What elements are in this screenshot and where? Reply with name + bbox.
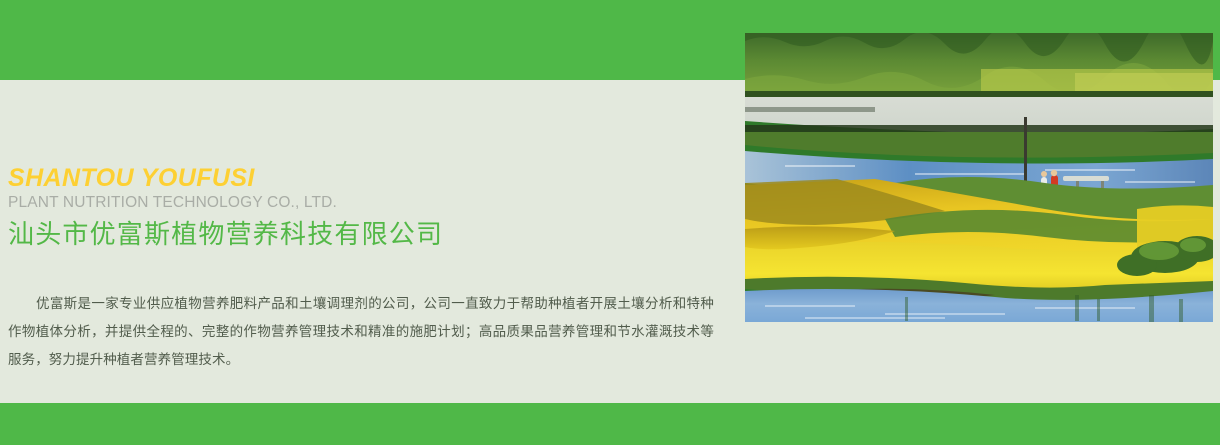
bottom-green-band <box>0 403 1220 445</box>
company-name-english: SHANTOU YOUFUSI <box>8 165 708 191</box>
company-name-chinese: 汕头市优富斯植物营养科技有限公司 <box>8 218 708 252</box>
farm-field-illustration <box>745 33 1213 322</box>
company-intro-paragraph: 优富斯是一家专业供应植物营养肥料产品和土壤调理剂的公司，公司一直致力于帮助种植者… <box>8 290 714 374</box>
farm-field-photo <box>745 33 1213 322</box>
company-profile-page: SHANTOU YOUFUSI PLANT NUTRITION TECHNOLO… <box>0 0 1220 445</box>
brand-block: SHANTOU YOUFUSI PLANT NUTRITION TECHNOLO… <box>8 165 708 251</box>
company-subtitle-english: PLANT NUTRITION TECHNOLOGY CO., LTD. <box>8 193 708 212</box>
left-content-column: SHANTOU YOUFUSI PLANT NUTRITION TECHNOLO… <box>0 80 735 403</box>
